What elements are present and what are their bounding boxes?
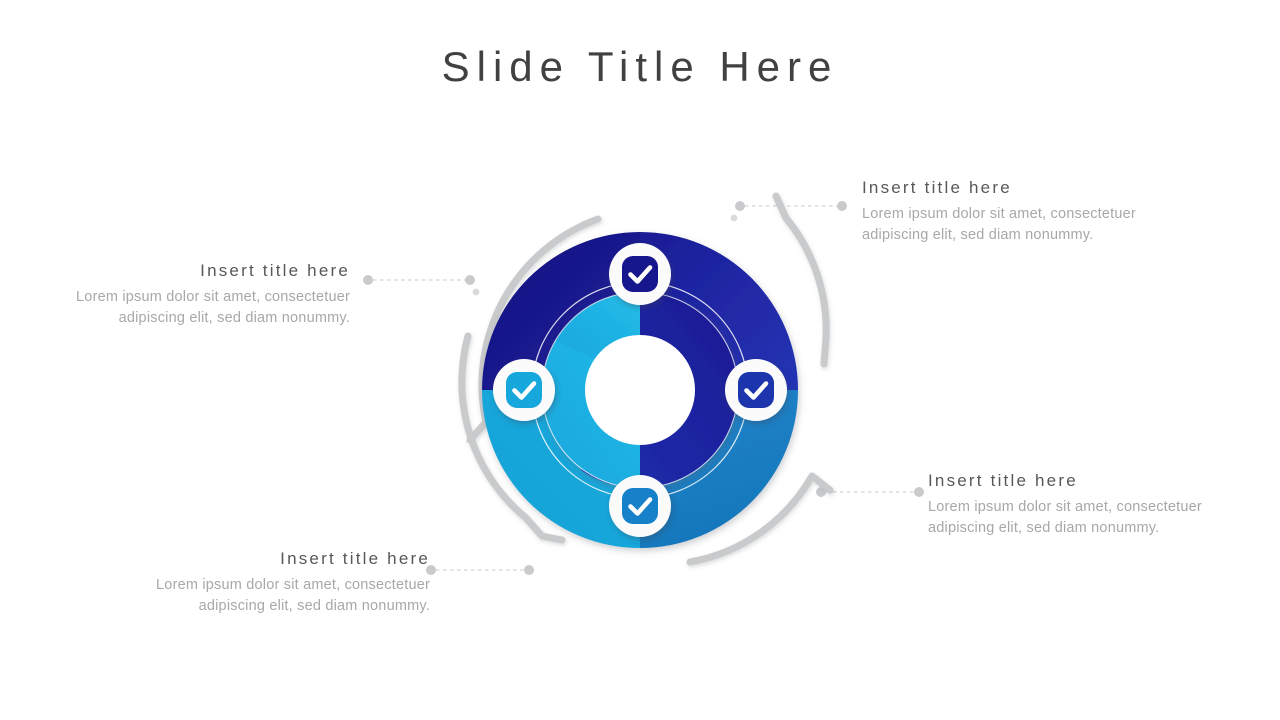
badge-bottom[interactable]	[609, 475, 671, 537]
callout-body: Lorem ipsum dolor sit amet, consectetuer…	[862, 204, 1172, 246]
connector-dot-outer-left	[363, 275, 373, 285]
callout-title: Insert title here	[862, 177, 1172, 200]
slide-canvas: Slide Title Here	[0, 0, 1280, 720]
callout-body: Lorem ipsum dolor sit amet, consectetuer…	[38, 287, 350, 329]
callout-top-right: Insert title here Lorem ipsum dolor sit …	[862, 177, 1172, 246]
badge-bottom-square	[622, 488, 658, 524]
badge-right-square	[738, 372, 774, 408]
callout-title: Insert title here	[38, 260, 350, 283]
connector-dot-outer-bottom-right	[914, 487, 924, 497]
callout-bottom-left: Insert title here Lorem ipsum dolor sit …	[118, 548, 430, 617]
badge-left[interactable]	[493, 359, 555, 421]
callout-body: Lorem ipsum dolor sit amet, consectetuer…	[118, 575, 430, 617]
center-hole	[585, 335, 695, 445]
callout-title: Insert title here	[928, 470, 1233, 493]
badge-right[interactable]	[725, 359, 787, 421]
callout-bottom-right: Insert title here Lorem ipsum dolor sit …	[928, 470, 1233, 539]
callout-title: Insert title here	[118, 548, 430, 571]
badge-top-square	[622, 256, 658, 292]
callout-left: Insert title here Lorem ipsum dolor sit …	[38, 260, 350, 329]
page-title: Slide Title Here	[0, 44, 1280, 90]
badge-top[interactable]	[609, 243, 671, 305]
callout-body: Lorem ipsum dolor sit amet, consectetuer…	[928, 497, 1233, 539]
badge-left-square	[506, 372, 542, 408]
circular-infographic	[438, 188, 842, 592]
